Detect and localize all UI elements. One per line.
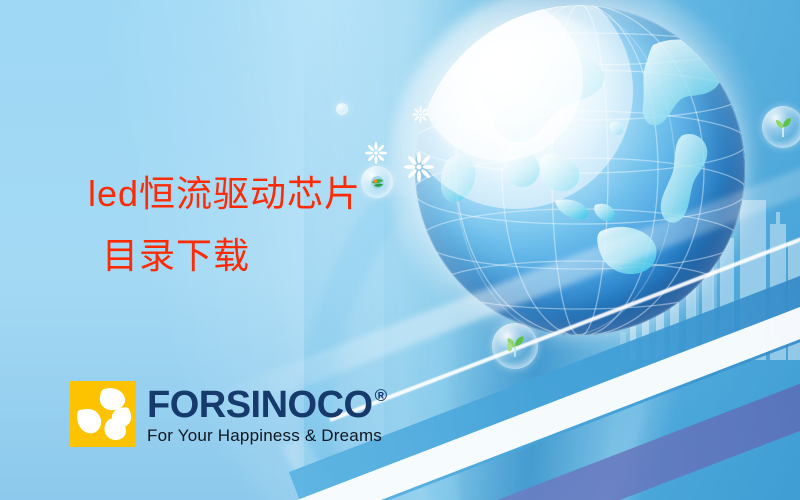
leaf-icon [502, 333, 528, 359]
four-petal-pinwheel-icon [70, 381, 136, 447]
starburst-icon [365, 142, 387, 164]
headline-line-1: led恒流驱动芯片 [88, 173, 361, 214]
bubble-leaf-icon [762, 106, 800, 148]
logo-wordmark: FORSINOCO ® [147, 385, 387, 425]
leaf-icon [771, 115, 795, 139]
promo-banner: led恒流驱动芯片 目录下载 FORSINOCO ® For Your Happ… [0, 0, 800, 500]
bubble-small-icon [336, 103, 348, 115]
starburst-icon [412, 106, 429, 123]
brand-logo[interactable]: FORSINOCO ® For Your Happiness & Dreams [70, 381, 387, 447]
headline-line-2: 目录下载 [88, 225, 488, 287]
registered-trademark-icon: ® [375, 387, 387, 404]
logo-wordmark-text: FORSINOCO [147, 385, 373, 425]
logo-tagline: For Your Happiness & Dreams [147, 426, 387, 446]
headline: led恒流驱动芯片 目录下载 [88, 163, 488, 287]
logo-text-block: FORSINOCO ® For Your Happiness & Dreams [147, 381, 387, 446]
bubble-leaf-icon [492, 323, 538, 369]
